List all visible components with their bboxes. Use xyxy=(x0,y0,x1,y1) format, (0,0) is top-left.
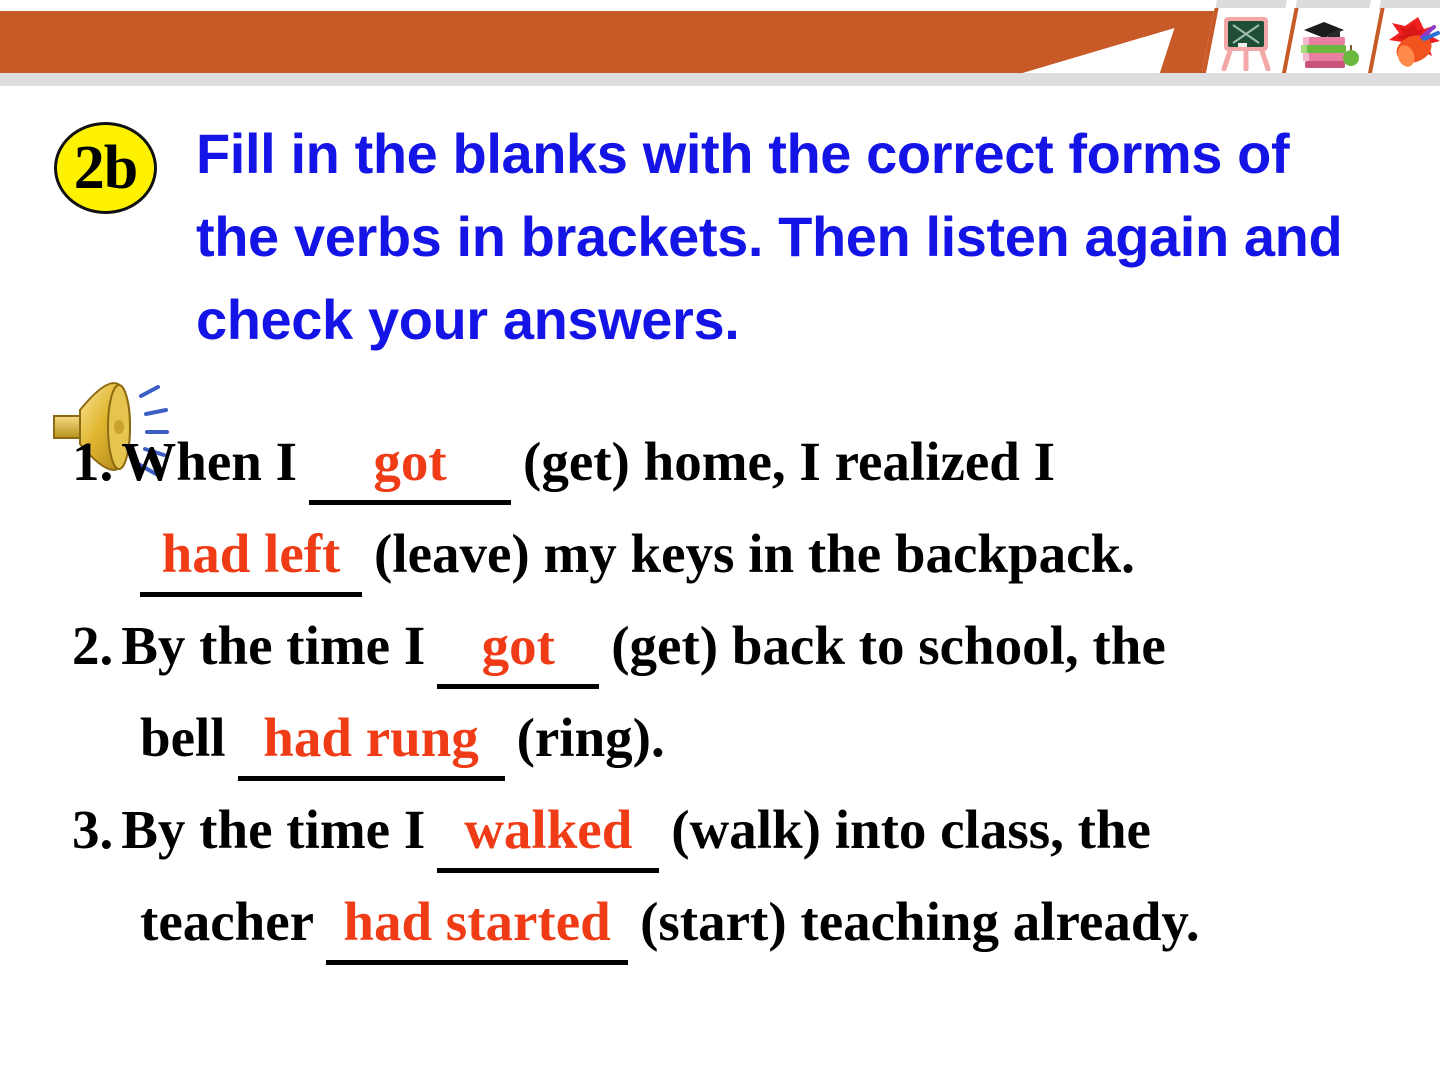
exercise-item-2: 2.By the time Igot(get) back to school, … xyxy=(0,600,1440,784)
exercise-3-number: 3. xyxy=(72,799,113,860)
header-gray-underline xyxy=(0,73,1440,86)
exercise-2-line-2: bellhad rung(ring). xyxy=(0,692,1440,784)
header-orange-bar xyxy=(0,11,1232,73)
exercise-3-text-c: teacher xyxy=(140,891,314,952)
exercise-1-number: 1. xyxy=(72,431,113,492)
exercise-1-text-c: (leave) my keys in the backpack. xyxy=(374,523,1135,584)
exercise-item-1: 1.When Igot(get) home, I realized I had … xyxy=(0,416,1440,600)
exercise-2-answer-1[interactable]: got xyxy=(437,610,599,689)
exercise-item-3: 3.By the time Iwalked(walk) into class, … xyxy=(0,784,1440,968)
exercise-2-text-a: By the time I xyxy=(121,615,425,676)
exercise-3-line-2: teacherhad started(start) teaching alrea… xyxy=(0,876,1440,968)
exercise-3-text-a: By the time I xyxy=(121,799,425,860)
exercise-1-answer-2[interactable]: had left xyxy=(140,518,362,597)
blackboard-easel-icon xyxy=(1201,8,1286,76)
exercise-2-answer-2[interactable]: had rung xyxy=(238,702,505,781)
exercise-2-line-1: 2.By the time Igot(get) back to school, … xyxy=(0,600,1440,692)
exercise-2-number: 2. xyxy=(72,615,113,676)
exercise-1-line-2: had left(leave) my keys in the backpack. xyxy=(0,508,1440,600)
activity-number-badge: 2b xyxy=(54,122,157,214)
exercise-3-text-d: (start) teaching already. xyxy=(640,891,1200,952)
activity-instruction-text: Fill in the blanks with the correct form… xyxy=(196,112,1376,361)
exercise-list: 1.When Igot(get) home, I realized I had … xyxy=(0,416,1440,968)
exercise-3-answer-2[interactable]: had started xyxy=(326,886,628,965)
stacked-books-graduation-cap-icon xyxy=(1281,8,1372,76)
page-header-banner xyxy=(0,0,1440,90)
exercise-1-line-1: 1.When Igot(get) home, I realized I xyxy=(0,416,1440,508)
school-bell-maple-leaf-icon xyxy=(1367,8,1440,76)
activity-title-block: 2b xyxy=(0,112,1400,372)
exercise-2-text-d: (ring). xyxy=(517,707,665,768)
exercise-1-text-b: (get) home, I realized I xyxy=(523,431,1055,492)
exercise-1-text-a: When I xyxy=(121,431,297,492)
exercise-2-text-b: (get) back to school, the xyxy=(611,615,1166,676)
exercise-3-answer-1[interactable]: walked xyxy=(437,794,659,873)
exercise-2-text-c: bell xyxy=(140,707,226,768)
exercise-3-text-b: (walk) into class, the xyxy=(671,799,1151,860)
exercise-3-line-1: 3.By the time Iwalked(walk) into class, … xyxy=(0,784,1440,876)
exercise-1-answer-1[interactable]: got xyxy=(309,426,511,505)
